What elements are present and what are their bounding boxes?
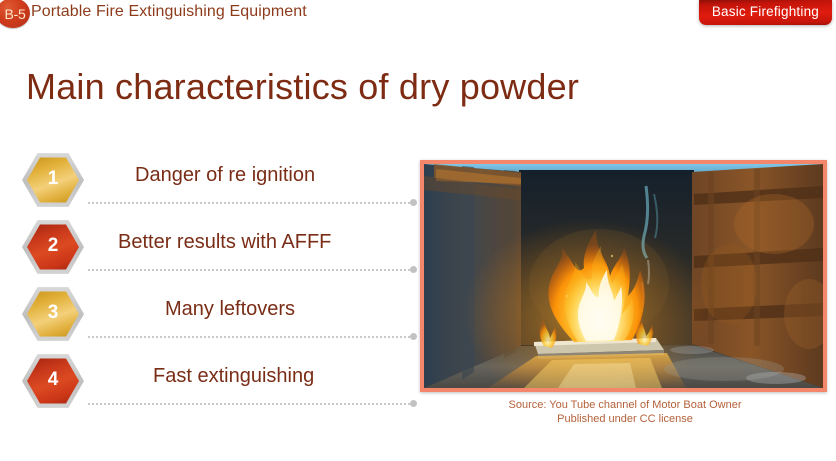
hexagon-number: 1 — [48, 168, 59, 190]
connector-endpoint-dot — [410, 400, 417, 407]
list-item-number-hexagon: 4 — [22, 353, 84, 409]
list-item: 1 Danger of re ignition — [0, 152, 420, 219]
photo-caption: Source: You Tube channel of Motor Boat O… — [420, 398, 830, 426]
list-item: 3 Many leftovers — [0, 286, 420, 353]
connector-endpoint-dot — [410, 266, 417, 273]
list-item-label: Many leftovers — [165, 298, 295, 321]
slide-header: B-5 Portable Fire Extinguishing Equipmen… — [0, 0, 836, 26]
list-item-number-hexagon: 1 — [22, 152, 84, 208]
list-item-label: Danger of re ignition — [135, 164, 315, 187]
page-title: Main characteristics of dry powder — [26, 66, 579, 108]
connector-line — [88, 269, 410, 273]
caption-line-2: Published under CC license — [420, 412, 830, 426]
module-code-badge: B-5 — [0, 0, 30, 28]
list-item-label: Fast extinguishing — [153, 365, 314, 388]
fire-scene-illustration — [424, 164, 823, 388]
connector-line — [88, 336, 410, 340]
list-item-number-hexagon: 3 — [22, 286, 84, 342]
caption-line-1: Source: You Tube channel of Motor Boat O… — [420, 398, 830, 412]
characteristics-list: 1 Danger of re ignition 2 Better results… — [0, 152, 420, 420]
hexagon-number: 3 — [48, 302, 59, 324]
module-title: Portable Fire Extinguishing Equipment — [31, 3, 307, 21]
slide: B-5 Portable Fire Extinguishing Equipmen… — [0, 0, 836, 461]
hexagon-number: 2 — [48, 235, 59, 257]
list-item: 2 Better results with AFFF — [0, 219, 420, 286]
module-code-label: B-5 — [5, 6, 26, 22]
fire-training-photo — [420, 160, 827, 392]
list-item-number-hexagon: 2 — [22, 219, 84, 275]
list-item-label: Better results with AFFF — [118, 231, 331, 254]
course-badge: Basic Firefighting — [699, 0, 832, 25]
hexagon-number: 4 — [48, 369, 59, 391]
connector-line — [88, 403, 410, 407]
list-item: 4 Fast extinguishing — [0, 353, 420, 420]
connector-endpoint-dot — [410, 333, 417, 340]
photo-content — [424, 164, 823, 388]
connector-line — [88, 202, 410, 206]
connector-endpoint-dot — [410, 199, 417, 206]
course-badge-label: Basic Firefighting — [712, 4, 819, 19]
